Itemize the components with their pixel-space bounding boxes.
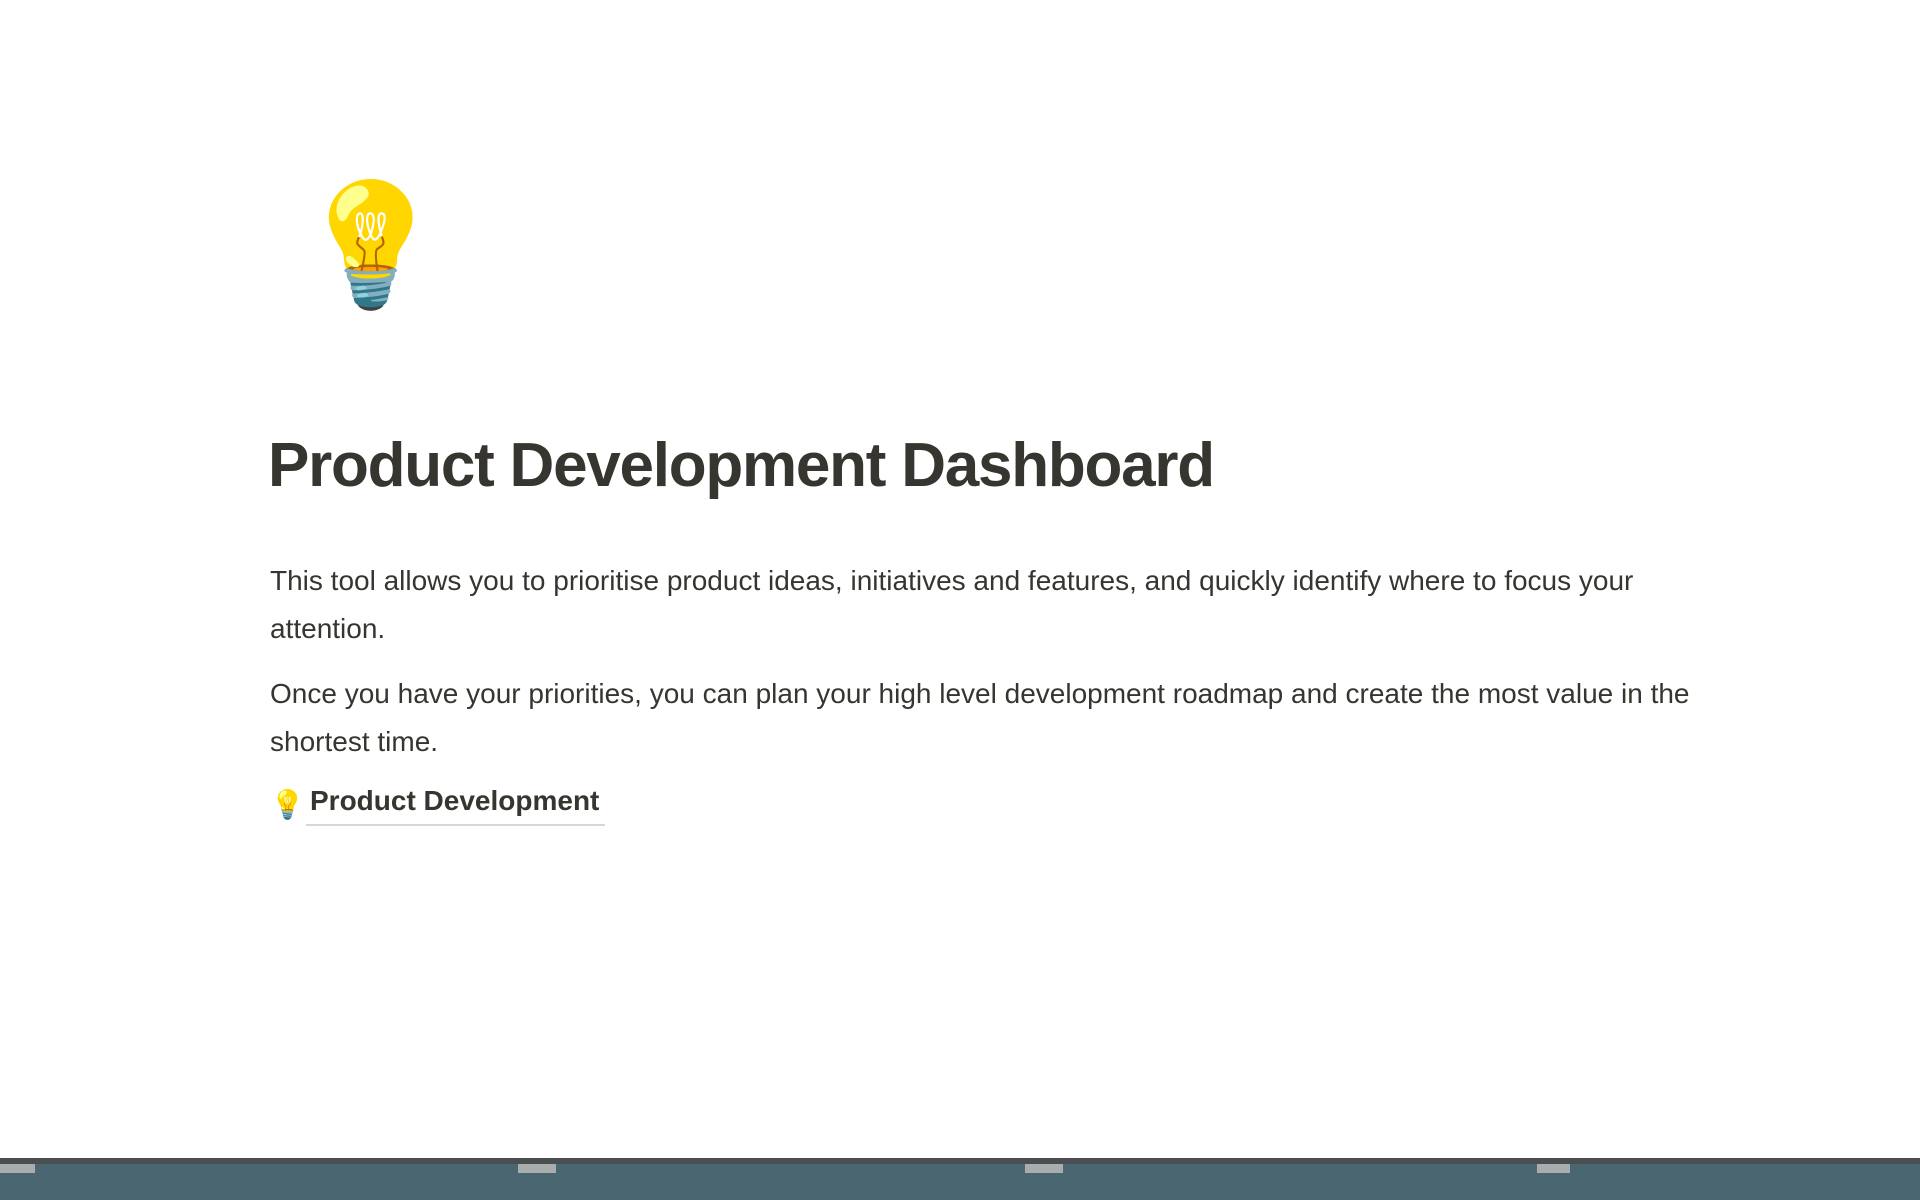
page-link-product-development[interactable]: 💡 Product Development bbox=[270, 784, 605, 826]
light-bulb-icon: 💡 bbox=[270, 791, 306, 819]
bottom-bar bbox=[0, 1158, 1920, 1200]
bottom-bar-strip bbox=[0, 1158, 1920, 1164]
page-link-label[interactable]: Product Development bbox=[306, 784, 605, 826]
tab-marker-2[interactable] bbox=[518, 1164, 556, 1173]
intro-paragraph-2[interactable]: Once you have your priorities, you can p… bbox=[270, 670, 1690, 766]
intro-paragraph-1[interactable]: This tool allows you to prioritise produ… bbox=[270, 557, 1690, 653]
tab-marker-4[interactable] bbox=[1537, 1164, 1570, 1173]
light-bulb-emoji[interactable]: 💡 bbox=[296, 186, 445, 306]
page-title[interactable]: Product Development Dashboard bbox=[268, 432, 1214, 500]
tab-marker-3[interactable] bbox=[1025, 1164, 1063, 1173]
tab-marker-1[interactable] bbox=[0, 1164, 35, 1173]
document-page: 💡 Product Development Dashboard This too… bbox=[0, 0, 1920, 1158]
